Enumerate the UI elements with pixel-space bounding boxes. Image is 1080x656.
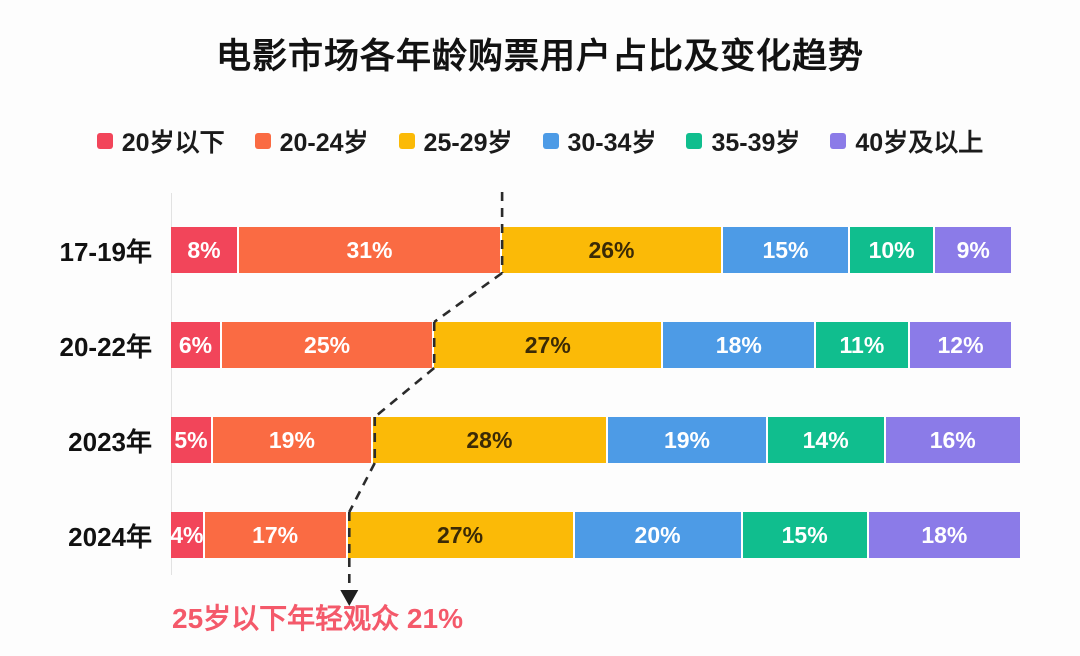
bar-segment[interactable]: 15% — [723, 227, 850, 273]
bar-segment[interactable]: 16% — [886, 417, 1020, 463]
bar-segment-value: 5% — [174, 429, 207, 452]
legend-item-label: 30-34岁 — [568, 123, 657, 159]
plot-area: 17-19年8%31%26%15%10%9%20-22年6%25%27%18%1… — [0, 185, 1080, 585]
bar-segment-value: 28% — [466, 429, 512, 452]
bar-segment[interactable]: 18% — [869, 512, 1020, 558]
bar-segment-value: 27% — [525, 334, 571, 357]
legend-swatch-icon — [97, 133, 113, 149]
legend-item-label: 25-29岁 — [424, 123, 513, 159]
legend-swatch-icon — [399, 133, 415, 149]
chart-legend: 20岁以下20-24岁25-29岁30-34岁35-39岁40岁及以上 — [0, 123, 1080, 159]
bar-segment-value: 12% — [938, 334, 984, 357]
bar-segment[interactable]: 12% — [910, 322, 1012, 368]
page-title: 电影市场各年龄购票用户占比及变化趋势 — [0, 28, 1080, 79]
bar-segment-value: 19% — [269, 429, 315, 452]
stacked-bar: 4%17%27%20%15%18% — [171, 512, 1020, 558]
bar-segment[interactable]: 8% — [171, 227, 239, 273]
bar-segment[interactable]: 26% — [502, 227, 723, 273]
bar-segment-value: 27% — [437, 524, 483, 547]
legend-item-3[interactable]: 30-34岁 — [543, 123, 657, 159]
bar-segment[interactable]: 19% — [213, 417, 373, 463]
bar-segment[interactable]: 17% — [205, 512, 348, 558]
bar-segment[interactable]: 28% — [373, 417, 608, 463]
bar-segment[interactable]: 18% — [663, 322, 816, 368]
legend-item-1[interactable]: 20-24岁 — [255, 123, 369, 159]
legend-item-5[interactable]: 40岁及以上 — [830, 123, 983, 159]
bar-segment[interactable]: 10% — [850, 227, 935, 273]
legend-item-4[interactable]: 35-39岁 — [686, 123, 800, 159]
bar-segment[interactable]: 19% — [608, 417, 768, 463]
bar-segment[interactable]: 9% — [935, 227, 1011, 273]
bar-segment-value: 31% — [346, 239, 392, 262]
bar-segment[interactable]: 25% — [222, 322, 434, 368]
bar-segment-value: 8% — [187, 239, 220, 262]
bar-segment-value: 25% — [304, 334, 350, 357]
legend-item-0[interactable]: 20岁以下 — [97, 123, 225, 159]
bar-segment-value: 11% — [840, 334, 885, 357]
row-category-label: 2024年 — [0, 512, 152, 558]
bar-segment-value: 20% — [635, 524, 681, 547]
row-category-label: 17-19年 — [0, 227, 152, 273]
bar-segment-value: 15% — [782, 524, 828, 547]
bar-segment-value: 26% — [588, 239, 634, 262]
stacked-bar: 5%19%28%19%14%16% — [171, 417, 1020, 463]
bar-segment[interactable]: 4% — [171, 512, 205, 558]
legend-swatch-icon — [830, 133, 846, 149]
legend-item-2[interactable]: 25-29岁 — [399, 123, 513, 159]
bar-segment-value: 4% — [171, 524, 203, 547]
bar-segment[interactable]: 6% — [171, 322, 222, 368]
legend-item-label: 40岁及以上 — [855, 123, 983, 159]
bar-segment-value: 9% — [957, 239, 990, 262]
legend-swatch-icon — [255, 133, 271, 149]
bar-segment[interactable]: 31% — [239, 227, 502, 273]
bar-segment[interactable]: 20% — [575, 512, 743, 558]
chart-row: 17-19年8%31%26%15%10%9% — [0, 227, 1080, 273]
bar-segment[interactable]: 5% — [171, 417, 213, 463]
chart-page: 电影市场各年龄购票用户占比及变化趋势 20岁以下20-24岁25-29岁30-3… — [0, 0, 1080, 656]
legend-item-label: 35-39岁 — [711, 123, 800, 159]
legend-item-label: 20-24岁 — [280, 123, 369, 159]
bar-segment[interactable]: 27% — [434, 322, 663, 368]
bar-segment-value: 10% — [869, 239, 915, 262]
chart-row: 2023年5%19%28%19%14%16% — [0, 417, 1080, 463]
legend-item-label: 20岁以下 — [122, 123, 225, 159]
bar-segment[interactable]: 15% — [743, 512, 869, 558]
stacked-bar: 6%25%27%18%11%12% — [171, 322, 1020, 368]
bar-segment-value: 17% — [252, 524, 298, 547]
chart-row: 20-22年6%25%27%18%11%12% — [0, 322, 1080, 368]
bar-segment[interactable]: 14% — [768, 417, 886, 463]
row-category-label: 20-22年 — [0, 322, 152, 368]
bar-segment-value: 16% — [930, 429, 976, 452]
chart-row: 2024年4%17%27%20%15%18% — [0, 512, 1080, 558]
bar-segment[interactable]: 27% — [348, 512, 575, 558]
bar-segment-value: 19% — [664, 429, 710, 452]
bar-segment-value: 18% — [716, 334, 762, 357]
row-category-label: 2023年 — [0, 417, 152, 463]
stacked-bar: 8%31%26%15%10%9% — [171, 227, 1020, 273]
legend-swatch-icon — [543, 133, 559, 149]
trend-annotation-label: 25岁以下年轻观众 21% — [172, 597, 463, 637]
bar-segment-value: 6% — [179, 334, 212, 357]
bar-segment-value: 14% — [803, 429, 849, 452]
bar-segment[interactable]: 11% — [816, 322, 909, 368]
bar-segment-value: 15% — [762, 239, 808, 262]
legend-swatch-icon — [686, 133, 702, 149]
bar-segment-value: 18% — [921, 524, 967, 547]
